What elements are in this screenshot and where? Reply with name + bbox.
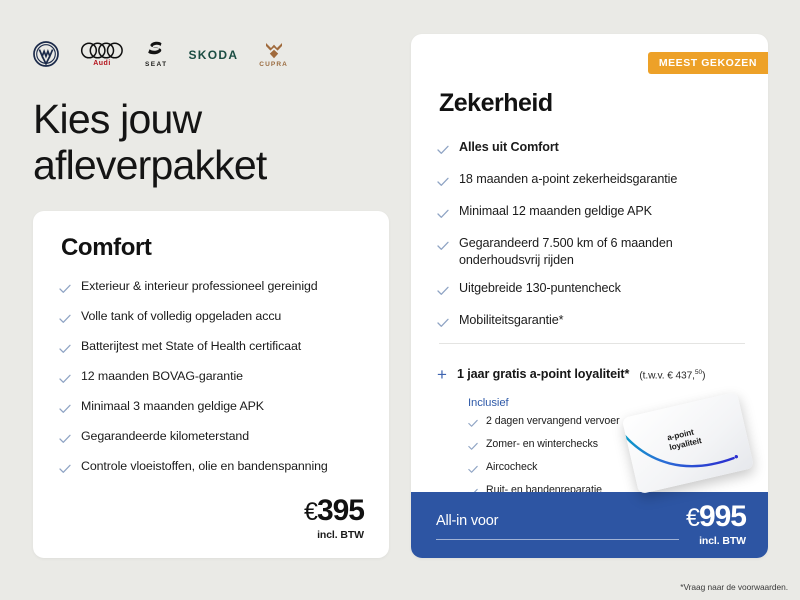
- audi-logo-caption: Audi: [93, 60, 111, 67]
- allin-label: All-in voor: [436, 513, 498, 529]
- loyalty-offer-row: + 1 jaar gratis a-point loyaliteit* (t.w…: [437, 364, 757, 381]
- left-column: Audi SEAT SKODA CUPRA Kies jouw: [0, 0, 400, 600]
- status-badge: MEEST GEKOZEN: [648, 52, 768, 74]
- check-icon: [59, 431, 71, 449]
- promo-page: Audi SEAT SKODA CUPRA Kies jouw: [0, 0, 800, 600]
- allin-price-amount: 995: [699, 500, 746, 533]
- comfort-feature-4: Minimaal 3 maanden geldige APK: [81, 398, 264, 415]
- comfort-feature-1: Volle tank of volledig opgeladen accu: [81, 308, 281, 325]
- list-item: Mobiliteitsgarantie*: [437, 312, 751, 333]
- currency-symbol: €: [304, 498, 317, 526]
- check-icon: [437, 283, 449, 301]
- loyalty-offer-value: (t.w.v. € 437,50): [639, 369, 705, 381]
- footnote: *Vraag naar de voorwaarden.: [680, 582, 788, 592]
- check-icon: [468, 438, 478, 456]
- comfort-price-block: €395 incl. BTW: [304, 496, 364, 541]
- comfort-feature-3: 12 maanden BOVAG-garantie: [81, 368, 243, 385]
- check-icon: [437, 174, 449, 192]
- comfort-price-note: incl. BTW: [304, 529, 364, 541]
- skoda-logo: SKODA: [188, 47, 238, 62]
- cupra-logo-caption: CUPRA: [259, 61, 288, 68]
- zekerheid-feature-0: Alles uit Comfort: [459, 139, 559, 156]
- cupra-logo: CUPRA: [259, 41, 288, 68]
- comfort-price-amount: 395: [317, 494, 364, 527]
- check-icon: [437, 315, 449, 333]
- volkswagen-logo: [33, 41, 59, 67]
- check-icon: [437, 238, 449, 256]
- brand-logo-strip: Audi SEAT SKODA CUPRA: [33, 36, 288, 72]
- comfort-price: €395: [304, 496, 364, 526]
- loyalty-value-cents: 50: [695, 369, 702, 376]
- page-title-line-1: Kies jouw: [33, 96, 363, 142]
- comfort-feature-list: Exterieur & interieur professioneel gere…: [59, 278, 369, 488]
- zekerheid-feature-5: Mobiliteitsgarantie*: [459, 312, 563, 329]
- loyalty-offer-label: 1 jaar gratis a-point loyaliteit*: [457, 367, 629, 381]
- allin-price-note: incl. BTW: [686, 535, 746, 547]
- currency-symbol: €: [686, 504, 699, 532]
- check-icon: [59, 401, 71, 419]
- seat-logo: SEAT: [145, 40, 167, 68]
- plus-icon: +: [437, 366, 447, 383]
- list-item: Batterijtest met State of Health certifi…: [59, 338, 369, 359]
- list-item: Volle tank of volledig opgeladen accu: [59, 308, 369, 329]
- check-icon: [59, 371, 71, 389]
- list-item: Minimaal 3 maanden geldige APK: [59, 398, 369, 419]
- check-icon: [59, 311, 71, 329]
- loyalty-value-prefix: (t.w.v. € 437,: [639, 370, 695, 381]
- list-item: Gegarandeerd 7.500 km of 6 maanden onder…: [437, 235, 751, 269]
- check-icon: [59, 461, 71, 479]
- inclusief-item-1: Zomer- en winterchecks: [486, 438, 598, 452]
- check-icon: [59, 341, 71, 359]
- list-item: Alles uit Comfort: [437, 139, 751, 160]
- zekerheid-feature-2: Minimaal 12 maanden geldige APK: [459, 203, 652, 220]
- loyalty-value-suffix: ): [702, 370, 705, 381]
- list-item: 18 maanden a-point zekerheidsgarantie: [437, 171, 751, 192]
- zekerheid-package-card[interactable]: MEEST GEKOZEN Zekerheid Alles uit Comfor…: [411, 34, 768, 558]
- divider: [439, 343, 745, 344]
- comfort-card-title: Comfort: [61, 234, 152, 262]
- skoda-logo-caption: SKODA: [188, 48, 238, 62]
- check-icon: [468, 415, 478, 433]
- list-item: Exterieur & interieur professioneel gere…: [59, 278, 369, 299]
- comfort-feature-5: Gegarandeerde kilometerstand: [81, 428, 249, 445]
- allin-underline: [436, 539, 679, 540]
- inclusief-item-2: Aircocheck: [486, 461, 537, 475]
- check-icon: [59, 281, 71, 299]
- allin-price: €995: [686, 502, 746, 532]
- list-item: Minimaal 12 maanden geldige APK: [437, 203, 751, 224]
- comfort-feature-6: Controle vloeistoffen, olie en bandenspa…: [81, 458, 328, 475]
- page-title-line-2: afleverpakket: [33, 142, 363, 188]
- list-item: Uitgebreide 130-puntencheck: [437, 280, 751, 301]
- comfort-package-card[interactable]: Comfort Exterieur & interieur profession…: [33, 211, 389, 558]
- inclusief-item-0: 2 dagen vervangend vervoer: [486, 415, 620, 429]
- zekerheid-feature-1: 18 maanden a-point zekerheidsgarantie: [459, 171, 677, 188]
- check-icon: [468, 461, 478, 479]
- seat-logo-caption: SEAT: [145, 61, 167, 68]
- allin-price-block: €995 incl. BTW: [686, 502, 746, 547]
- page-title: Kies jouw afleverpakket: [33, 96, 363, 189]
- zekerheid-feature-3: Gegarandeerd 7.500 km of 6 maanden onder…: [459, 235, 751, 269]
- zekerheid-feature-4: Uitgebreide 130-puntencheck: [459, 280, 621, 297]
- check-icon: [437, 142, 449, 160]
- comfort-feature-0: Exterieur & interieur professioneel gere…: [81, 278, 318, 295]
- zekerheid-feature-list: Alles uit Comfort 18 maanden a-point zek…: [437, 139, 751, 344]
- allin-price-bar: All-in voor €995 incl. BTW: [411, 492, 768, 558]
- list-item: 12 maanden BOVAG-garantie: [59, 368, 369, 389]
- comfort-feature-2: Batterijtest met State of Health certifi…: [81, 338, 301, 355]
- audi-logo: Audi: [80, 42, 124, 67]
- check-icon: [437, 206, 449, 224]
- list-item: Controle vloeistoffen, olie en bandenspa…: [59, 458, 369, 479]
- list-item: Gegarandeerde kilometerstand: [59, 428, 369, 449]
- zekerheid-card-title: Zekerheid: [439, 89, 553, 118]
